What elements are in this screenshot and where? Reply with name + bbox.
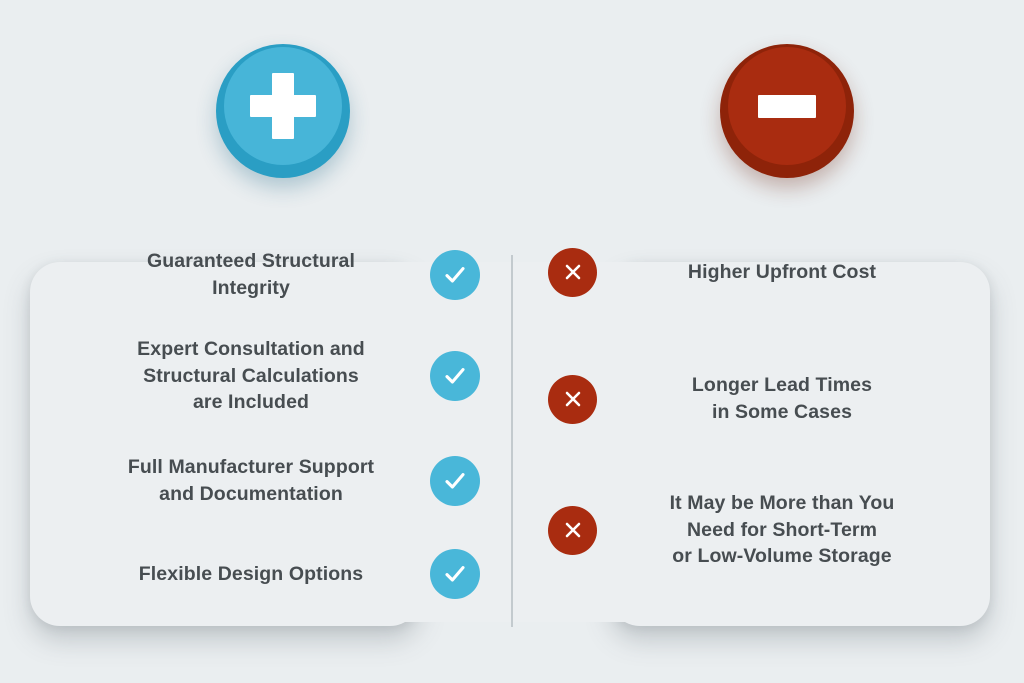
check-circle-icon [430,456,480,506]
plus-icon [224,47,342,165]
pros-item-text: Expert Consultation and Structural Calcu… [92,336,410,417]
pros-list-item: Expert Consultation and Structural Calcu… [92,336,480,416]
x-circle-icon [548,506,597,555]
minus-icon [728,47,846,165]
pros-badge-inner [224,47,342,165]
infographic-stage: Guaranteed Structural Integrity Expert C… [0,0,1024,683]
cons-item-text: Higher Upfront Cost [619,259,945,286]
text-line: It May be More than You [619,490,945,517]
cons-list-item: It May be More than You Need for Short-T… [548,482,945,578]
x-circle-icon [548,375,597,424]
pros-list-item: Guaranteed Structural Integrity [92,245,480,305]
text-line: Guaranteed Structural [92,248,410,275]
cons-badge [720,44,854,178]
text-line: Flexible Design Options [92,561,410,588]
text-line: Longer Lead Times [619,372,945,399]
text-line: in Some Cases [619,399,945,426]
x-circle-icon [548,248,597,297]
text-line: Structural Calculations [92,363,410,390]
text-line: Full Manufacturer Support [92,454,410,481]
check-circle-icon [430,250,480,300]
pros-item-text: Guaranteed Structural Integrity [92,248,410,302]
cons-item-text: Longer Lead Times in Some Cases [619,372,945,426]
text-line: are Included [92,389,410,416]
check-circle-icon [430,549,480,599]
cons-badge-inner [728,47,846,165]
text-line: Higher Upfront Cost [619,259,945,286]
pros-badge [216,44,350,178]
cons-item-text: It May be More than You Need for Short-T… [619,490,945,571]
text-line: or Low-Volume Storage [619,543,945,570]
pros-item-text: Full Manufacturer Support and Documentat… [92,454,410,508]
text-line: Integrity [92,275,410,302]
text-line: Need for Short-Term [619,517,945,544]
pros-list-item: Flexible Design Options [92,548,480,600]
text-line: and Documentation [92,481,410,508]
column-divider [511,255,513,627]
cons-list-item: Higher Upfront Cost [548,246,945,298]
text-line: Expert Consultation and [92,336,410,363]
pros-item-text: Flexible Design Options [92,561,410,588]
cons-list-item: Longer Lead Times in Some Cases [548,368,945,430]
pros-list-item: Full Manufacturer Support and Documentat… [92,451,480,511]
check-circle-icon [430,351,480,401]
